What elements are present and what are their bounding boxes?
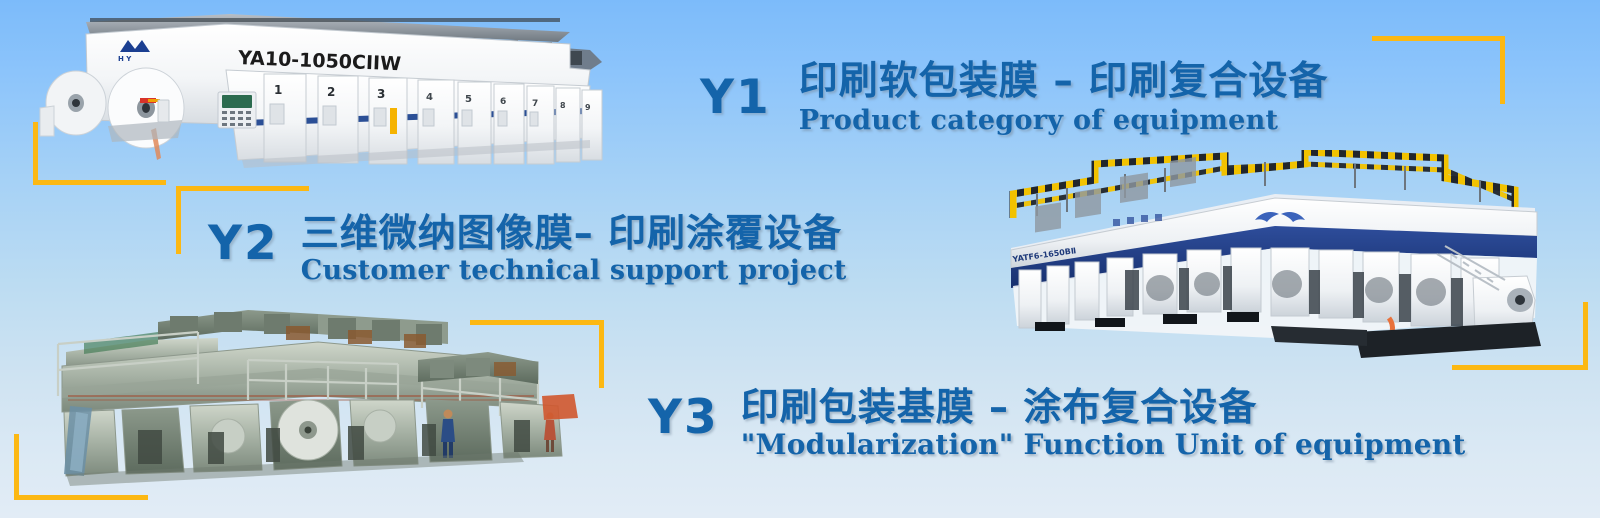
section-y3-title-cn: 印刷包装基膜 – 涂布复合设备 [741, 386, 1466, 429]
svg-text:4: 4 [426, 92, 433, 103]
svg-text:7: 7 [532, 99, 538, 109]
section-y1-titles: 印刷软包装膜 – 印刷复合设备 Product category of equi… [799, 60, 1329, 135]
svg-text:1: 1 [274, 83, 282, 97]
section-y3-title-en: "Modularization" Function Unit of equipm… [741, 430, 1466, 461]
section-y2-title-cn: 三维微纳图像膜– 印刷涂覆设备 [301, 212, 847, 255]
section-y3-code: Y3 [648, 386, 719, 441]
bracket-line-horizontal [14, 495, 148, 500]
bracket-line-horizontal [1372, 36, 1505, 41]
svg-text:2: 2 [327, 85, 335, 99]
bracket-line-vertical [176, 186, 181, 254]
section-y1-title-en: Product category of equipment [799, 106, 1329, 136]
svg-text:3: 3 [377, 87, 385, 101]
section-y2-title-en: Customer technical support project [301, 256, 847, 286]
section-y1: Y1 印刷软包装膜 – 印刷复合设备 Product category of e… [700, 60, 1328, 135]
section-y3: Y3 印刷包装基膜 – 涂布复合设备 "Modularization" Func… [648, 386, 1465, 460]
section-y2: Y2 三维微纳图像膜– 印刷涂覆设备 Customer technical su… [208, 212, 847, 285]
section-y1-code: Y1 [700, 60, 771, 121]
machine-photo-coating-line [18, 300, 588, 495]
bracket-line-vertical [1500, 36, 1505, 104]
svg-text:5: 5 [465, 94, 472, 105]
svg-text:H Y: H Y [118, 55, 132, 63]
product-category-banner: YA10-1050CIIW H Y [0, 0, 1600, 518]
section-y2-titles: 三维微纳图像膜– 印刷涂覆设备 Customer technical suppo… [301, 212, 847, 285]
svg-text:8: 8 [560, 101, 566, 110]
section-y1-title-cn: 印刷软包装膜 – 印刷复合设备 [799, 60, 1329, 104]
machine-photo-coating-laminator: YATF6-1650BⅡ [975, 150, 1550, 375]
bracket-line-horizontal [176, 186, 309, 191]
svg-text:6: 6 [500, 97, 506, 107]
machine-photo-rotogravure-press: YA10-1050CIIW H Y [30, 8, 610, 183]
section-y2-code: Y2 [208, 212, 279, 267]
section-y3-titles: 印刷包装基膜 – 涂布复合设备 "Modularization" Functio… [741, 386, 1466, 460]
bracket-line-vertical [1583, 302, 1588, 370]
bracket-line-vertical [599, 320, 604, 388]
svg-text:9: 9 [585, 103, 591, 112]
